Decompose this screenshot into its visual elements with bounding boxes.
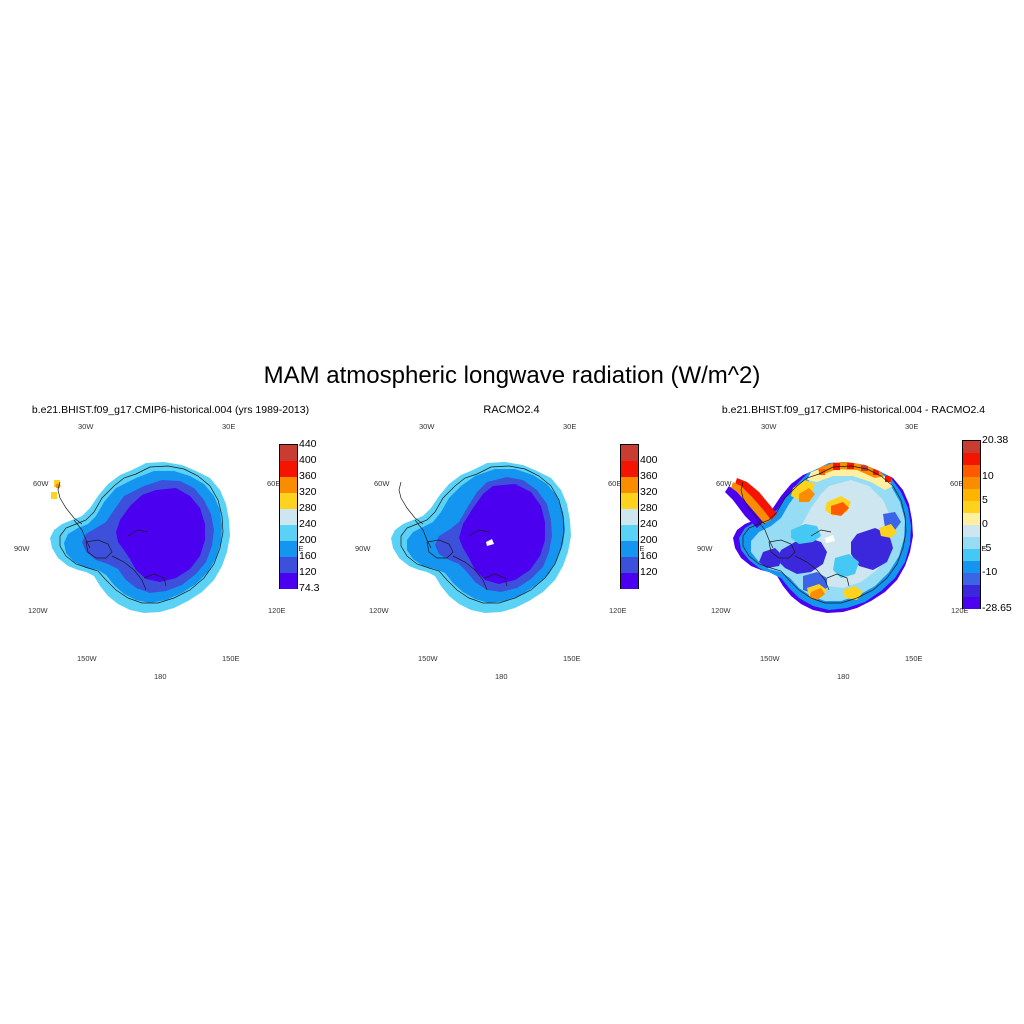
colorbar-tick: 400: [299, 454, 317, 466]
peninsula-anomaly: [725, 478, 777, 528]
colorbar-tick: -28.65: [982, 602, 1012, 614]
figure-canvas: MAM atmospheric longwave radiation (W/m^…: [0, 0, 1024, 1024]
colorbar-tick: 360: [640, 470, 658, 482]
antarctica-difference-map: [707, 438, 957, 663]
colorbar-band: [962, 453, 981, 465]
colorbar-tick: 200: [640, 534, 658, 546]
colorbar-panel-1: 440 400 360 320 280 240 200 160 120 74.3: [279, 444, 296, 589]
colorbar-band: [962, 573, 981, 585]
lon-label-30E: 30E: [905, 422, 918, 431]
colorbar-tick: 200: [299, 534, 317, 546]
colorbar-tick: 440: [299, 438, 317, 450]
colorbar-band: [620, 541, 639, 557]
colorbar-panel-3: 20.38 10 5 0 -5 -10 -28.65: [962, 440, 979, 609]
panel-1: b.e21.BHIST.f09_g17.CMIP6-historical.004…: [0, 404, 341, 694]
colorbar-band: [279, 557, 298, 573]
colorbar-band: [962, 477, 981, 489]
colorbar-band: [620, 525, 639, 541]
panel-2-title: RACMO2.4: [341, 404, 682, 416]
colorbar-labels-1: 440 400 360 320 280 240 200 160 120 74.3: [299, 444, 339, 589]
colorbar-band: [279, 541, 298, 557]
colorbar-band: [620, 509, 639, 525]
colorbar-tick: 280: [299, 502, 317, 514]
colorbar-band: [620, 477, 639, 493]
colorbar-tick: -10: [982, 566, 997, 578]
colorbar-band: [620, 444, 639, 461]
colorbar-tick: 160: [640, 550, 658, 562]
colorbar-band: [279, 509, 298, 525]
colorbar-band: [962, 549, 981, 561]
colorbar-band: [962, 465, 981, 477]
colorbar-band: [279, 461, 298, 477]
page-title: MAM atmospheric longwave radiation (W/m^…: [0, 362, 1024, 390]
colorbar-tick: 5: [982, 494, 988, 506]
colorbar-tick: 160: [299, 550, 317, 562]
panel-2: RACMO2.4 30W 30E 60W 60E 90W 90E 120W 12…: [341, 404, 682, 694]
colorbar-band: [620, 557, 639, 573]
colorbar-band: [962, 585, 981, 597]
panel-3: b.e21.BHIST.f09_g17.CMIP6-historical.004…: [683, 404, 1024, 694]
lon-label-30W: 30W: [761, 422, 776, 431]
colorbar-tick: 320: [299, 486, 317, 498]
colorbar-tick: 280: [640, 502, 658, 514]
colorbar-tick: 400: [640, 454, 658, 466]
colorbar-band: [279, 493, 298, 509]
lon-label-30W: 30W: [419, 422, 434, 431]
colorbar-tick: -5: [982, 542, 991, 554]
map-panel-2: [365, 438, 615, 663]
colorbar-tick: 360: [299, 470, 317, 482]
colorbar-band: [962, 489, 981, 501]
colorbar-band: [962, 525, 981, 537]
lon-label-30E: 30E: [563, 422, 576, 431]
panel-3-title: b.e21.BHIST.f09_g17.CMIP6-historical.004…: [683, 404, 1024, 416]
lon-label-180: 180: [154, 672, 167, 681]
colorbar-band: [962, 501, 981, 513]
antarctica-map-2: [365, 438, 615, 663]
colorbar-panel-2: 400 360 320 280 240 200 160 120: [620, 444, 637, 589]
colorbar-band: [279, 444, 298, 461]
lon-label-30W: 30W: [78, 422, 93, 431]
colorbar-tick: 10: [982, 470, 994, 482]
antarctica-map-1: [24, 438, 274, 663]
panel-1-title: b.e21.BHIST.f09_g17.CMIP6-historical.004…: [0, 404, 341, 416]
colorbar-band: [620, 461, 639, 477]
colorbar-tick: 240: [640, 518, 658, 530]
lon-label-180: 180: [837, 672, 850, 681]
map-panel-1: [24, 438, 274, 663]
lon-label-30E: 30E: [222, 422, 235, 431]
colorbar-tick: 20.38: [982, 434, 1008, 446]
colorbar-band: [620, 573, 639, 589]
colorbar-band: [279, 477, 298, 493]
colorbar-band: [279, 525, 298, 541]
colorbar-tick: 0: [982, 518, 988, 530]
colorbar-band: [962, 440, 981, 453]
colorbar-band: [962, 597, 981, 609]
map-panel-3: [707, 438, 957, 663]
colorbar-tick: 120: [640, 566, 658, 578]
lon-label-180: 180: [495, 672, 508, 681]
colorbar-tick: 120: [299, 566, 317, 578]
colorbar-band: [279, 573, 298, 589]
colorbar-tick: 74.3: [299, 582, 319, 594]
colorbar-band: [620, 493, 639, 509]
colorbar-band: [962, 537, 981, 549]
colorbar-band: [962, 561, 981, 573]
colorbar-labels-2: 400 360 320 280 240 200 160 120: [640, 444, 680, 589]
colorbar-tick: 240: [299, 518, 317, 530]
colorbar-labels-3: 20.38 10 5 0 -5 -10 -28.65: [982, 440, 1022, 609]
colorbar-band: [962, 513, 981, 525]
colorbar-tick: 320: [640, 486, 658, 498]
